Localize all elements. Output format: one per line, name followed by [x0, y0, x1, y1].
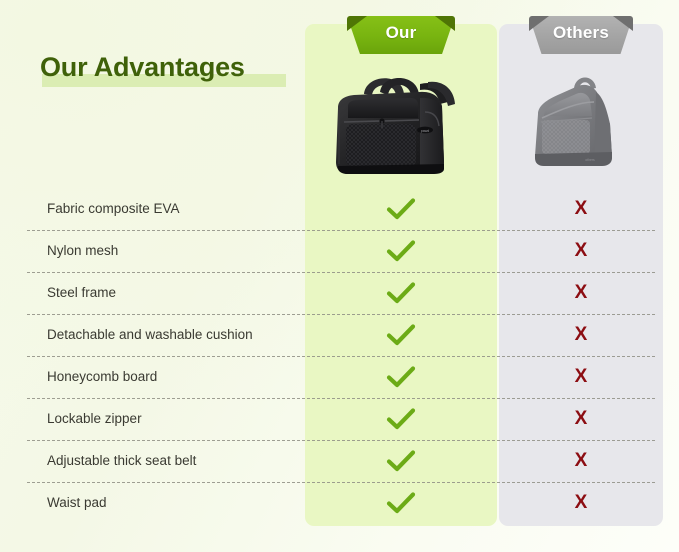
- our-cell-1: [305, 231, 497, 273]
- feature-label: Fabric composite EVA: [47, 201, 180, 216]
- others-cell-5: X: [499, 399, 663, 441]
- our-product-image: pawd: [324, 50, 480, 182]
- page-title-text: Our Advantages: [40, 52, 245, 83]
- check-icon: [305, 449, 497, 478]
- others-cell-2: X: [499, 273, 663, 315]
- svg-text:pawd: pawd: [421, 129, 430, 133]
- our-cell-7: [305, 483, 497, 525]
- table-row-1: Nylon mesh X: [0, 231, 679, 273]
- cross-icon: X: [499, 407, 663, 431]
- others-cell-0: X: [499, 189, 663, 231]
- check-icon: [305, 491, 497, 520]
- others-cell-6: X: [499, 441, 663, 483]
- check-icon: [305, 365, 497, 394]
- feature-label: Detachable and washable cushion: [47, 327, 253, 342]
- feature-label: Waist pad: [47, 495, 107, 510]
- comparison-rows: Fabric composite EVA X Nylon mesh X St: [0, 189, 679, 525]
- check-icon: [305, 323, 497, 352]
- others-tab-label: Others: [529, 23, 633, 43]
- check-icon: [305, 281, 497, 310]
- feature-label: Steel frame: [47, 285, 116, 300]
- our-cell-4: [305, 357, 497, 399]
- table-row-0: Fabric composite EVA X: [0, 189, 679, 231]
- check-icon: [305, 407, 497, 436]
- others-cell-3: X: [499, 315, 663, 357]
- comparison-chart-stage: Our Others Our Advantages: [0, 0, 679, 552]
- table-row-3: Detachable and washable cushion X: [0, 315, 679, 357]
- our-cell-3: [305, 315, 497, 357]
- table-row-6: Adjustable thick seat belt X: [0, 441, 679, 483]
- cross-icon: X: [499, 323, 663, 347]
- others-column-tab: Others: [529, 16, 633, 54]
- svg-text:others: others: [585, 158, 595, 162]
- cross-icon: X: [499, 449, 663, 473]
- our-cell-6: [305, 441, 497, 483]
- table-row-2: Steel frame X: [0, 273, 679, 315]
- our-cell-2: [305, 273, 497, 315]
- feature-label: Lockable zipper: [47, 411, 142, 426]
- others-cell-7: X: [499, 483, 663, 525]
- feature-label: Adjustable thick seat belt: [47, 453, 196, 468]
- others-product-image: others: [516, 52, 648, 182]
- our-cell-5: [305, 399, 497, 441]
- table-row-7: Waist pad X: [0, 483, 679, 525]
- cross-icon: X: [499, 491, 663, 515]
- cross-icon: X: [499, 197, 663, 221]
- our-tab-label: Our: [347, 23, 455, 43]
- check-icon: [305, 239, 497, 268]
- cross-icon: X: [499, 365, 663, 389]
- feature-label: Nylon mesh: [47, 243, 118, 258]
- cross-icon: X: [499, 239, 663, 263]
- check-icon: [305, 197, 497, 226]
- feature-label: Honeycomb board: [47, 369, 157, 384]
- our-column-tab: Our: [347, 16, 455, 54]
- page-title: Our Advantages: [40, 52, 245, 83]
- table-row-5: Lockable zipper X: [0, 399, 679, 441]
- cross-icon: X: [499, 281, 663, 305]
- table-row-4: Honeycomb board X: [0, 357, 679, 399]
- our-cell-0: [305, 189, 497, 231]
- others-cell-4: X: [499, 357, 663, 399]
- others-cell-1: X: [499, 231, 663, 273]
